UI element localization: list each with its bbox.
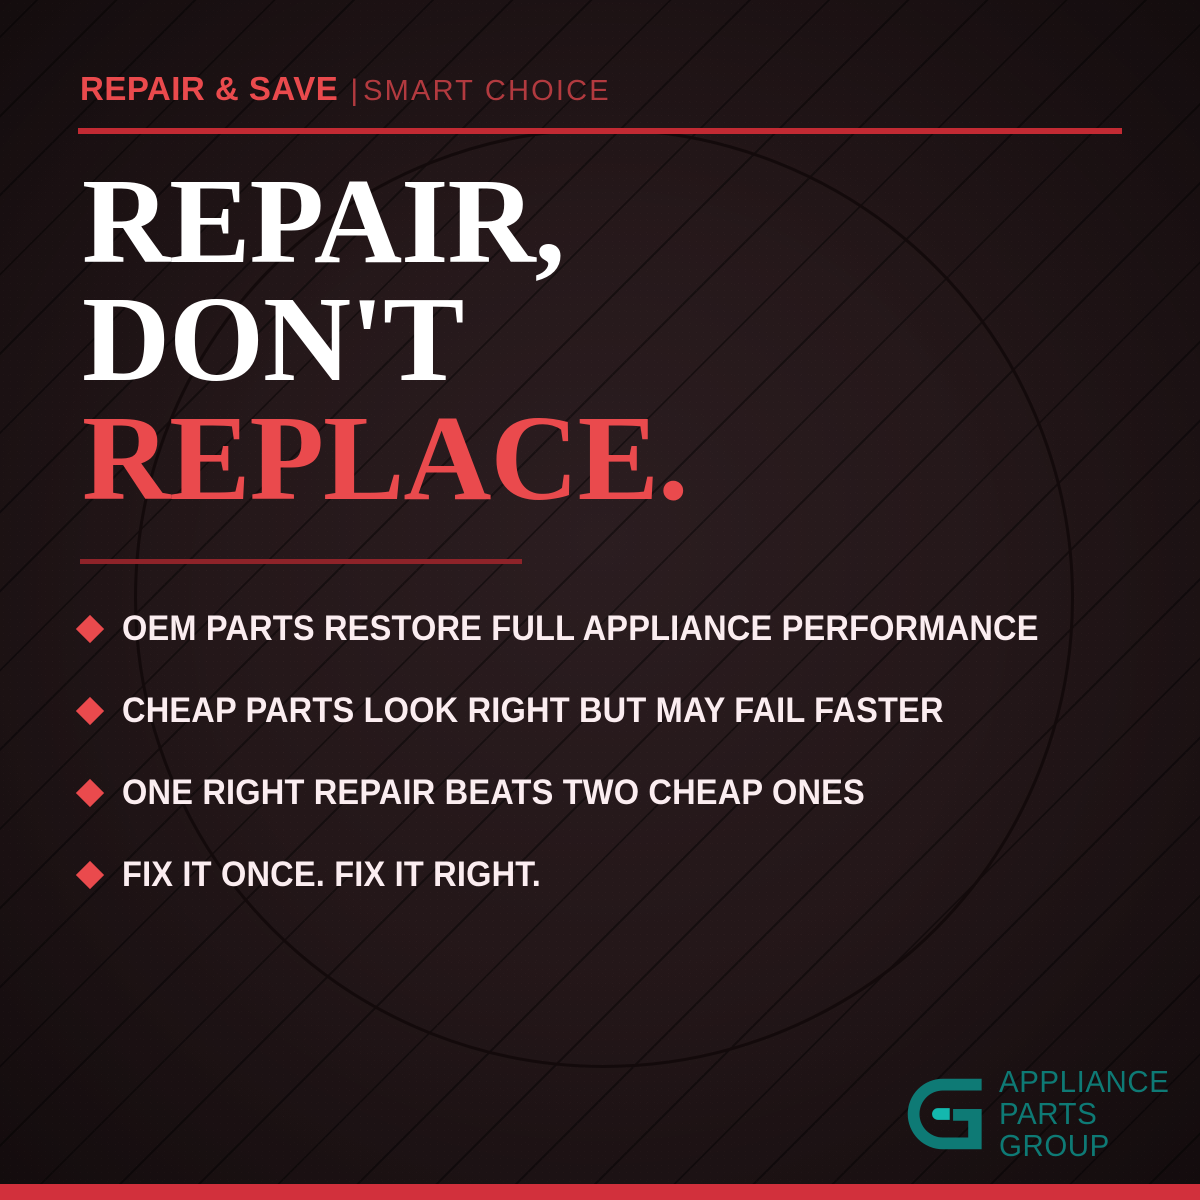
logo-line-3: GROUP: [999, 1130, 1169, 1162]
list-item-label: OEM PARTS RESTORE FULL APPLIANCE PERFORM…: [122, 609, 1039, 649]
headline-line-3: REPLACE.: [82, 400, 687, 518]
poster-canvas: REPAIR & SAVE|SMART CHOICE REPAIR, DON'T…: [0, 0, 1200, 1200]
logo-line-2: PARTS: [999, 1098, 1169, 1130]
diamond-bullet-icon: [76, 861, 104, 889]
poster-content: REPAIR & SAVE|SMART CHOICE REPAIR, DON'T…: [0, 0, 1200, 1200]
headline-line-1: REPAIR,: [82, 163, 687, 281]
headline-divider-rule: [80, 559, 522, 564]
bottom-accent-bar: [0, 1184, 1200, 1200]
list-item-label: ONE RIGHT REPAIR BEATS TWO CHEAP ONES: [122, 773, 865, 813]
logo-line-1: APPLIANCE: [999, 1066, 1169, 1098]
list-item: CHEAP PARTS LOOK RIGHT BUT MAY FAIL FAST…: [80, 670, 1150, 752]
brand-logo: APPLIANCE PARTS GROUP: [901, 1066, 1178, 1162]
list-item-label: FIX IT ONCE. FIX IT RIGHT.: [122, 855, 541, 895]
list-item: FIX IT ONCE. FIX IT RIGHT.: [80, 834, 1150, 916]
diamond-bullet-icon: [76, 697, 104, 725]
logo-wordmark: APPLIANCE PARTS GROUP: [999, 1066, 1169, 1162]
list-item: OEM PARTS RESTORE FULL APPLIANCE PERFORM…: [80, 588, 1150, 670]
headline-line-2: DON'T: [82, 281, 687, 399]
list-item: ONE RIGHT REPAIR BEATS TWO CHEAP ONES: [80, 752, 1150, 834]
page-title: REPAIR, DON'T REPLACE.: [82, 163, 687, 518]
eyebrow-separator: |: [350, 74, 359, 107]
diamond-bullet-icon: [76, 779, 104, 807]
eyebrow-sub-label: SMART CHOICE: [363, 75, 611, 107]
benefit-list: OEM PARTS RESTORE FULL APPLIANCE PERFORM…: [80, 588, 1150, 916]
list-item-label: CHEAP PARTS LOOK RIGHT BUT MAY FAIL FAST…: [122, 691, 944, 731]
diamond-bullet-icon: [76, 615, 104, 643]
header-divider-rule: [78, 128, 1122, 134]
eyebrow-main-label: REPAIR & SAVE: [80, 70, 338, 107]
eyebrow: REPAIR & SAVE|SMART CHOICE: [80, 72, 611, 106]
logo-g-mark-icon: [901, 1072, 985, 1156]
